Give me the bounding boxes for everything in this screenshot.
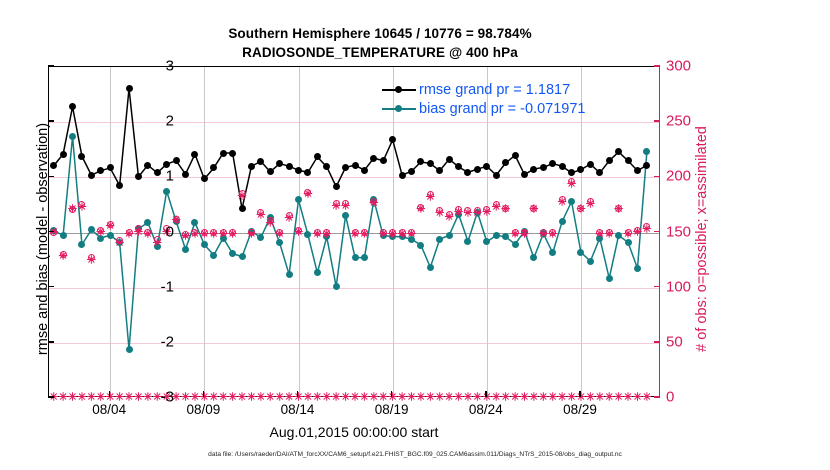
- obs-assimilated-marker: ✳: [68, 205, 77, 216]
- obs-baseline-marker: ✳: [134, 393, 143, 404]
- obs-assimilated-marker: ✳: [492, 203, 501, 214]
- data-point-bias: [587, 258, 594, 265]
- obs-assimilated-marker: ✳: [633, 227, 642, 238]
- obs-baseline-marker: ✳: [633, 393, 642, 404]
- data-point-bias: [436, 236, 443, 243]
- y-tick-mark-right: [654, 65, 660, 66]
- y-tick-label-left: -3: [161, 389, 174, 406]
- data-point-bias: [493, 232, 500, 239]
- data-point-rmse: [69, 103, 76, 110]
- data-point-bias: [559, 218, 566, 225]
- y-tick-label-right: 200: [666, 168, 691, 185]
- obs-assimilated-marker: ✳: [642, 225, 651, 236]
- obs-assimilated-marker: ✳: [303, 189, 312, 200]
- obs-assimilated-marker: ✳: [87, 256, 96, 267]
- data-point-bias: [286, 271, 293, 278]
- data-point-rmse: [220, 150, 227, 157]
- data-point-rmse: [464, 169, 471, 176]
- data-point-bias: [88, 226, 95, 233]
- data-point-bias: [634, 265, 641, 272]
- obs-assimilated-marker: ✳: [623, 229, 632, 240]
- data-point-rmse: [210, 164, 217, 171]
- chart-canvas: Southern Hemisphere 10645 / 10776 = 98.7…: [0, 0, 830, 470]
- obs-baseline-marker: ✳: [266, 393, 275, 404]
- data-point-rmse: [229, 150, 236, 157]
- data-point-rmse: [474, 166, 481, 173]
- data-point-bias: [333, 283, 340, 290]
- data-point-bias: [191, 219, 198, 226]
- obs-baseline-marker: ✳: [68, 393, 77, 404]
- x-tick-label: 08/24: [469, 402, 503, 417]
- data-point-bias: [502, 233, 509, 240]
- obs-assimilated-marker: ✳: [614, 205, 623, 216]
- x-tick-mark: [391, 391, 392, 397]
- data-point-bias: [512, 241, 519, 248]
- data-point-rmse: [596, 169, 603, 176]
- data-point-bias: [606, 275, 613, 282]
- x-tick-mark: [297, 391, 298, 397]
- obs-assimilated-marker: ✳: [284, 214, 293, 225]
- obs-assimilated-marker: ✳: [360, 229, 369, 240]
- obs-assimilated-marker: ✳: [134, 227, 143, 238]
- data-point-rmse: [126, 85, 133, 92]
- obs-assimilated-marker: ✳: [313, 229, 322, 240]
- obs-assimilated-marker: ✳: [397, 229, 406, 240]
- data-point-rmse: [60, 151, 67, 158]
- obs-assimilated-marker: ✳: [426, 193, 435, 204]
- legend: rmse grand pr = 1.1817 bias grand pr = -…: [378, 78, 589, 121]
- data-point-bias: [163, 188, 170, 195]
- obs-baseline-marker: ✳: [445, 393, 454, 404]
- obs-baseline-marker: ✳: [237, 393, 246, 404]
- obs-assimilated-marker: ✳: [595, 229, 604, 240]
- obs-assimilated-marker: ✳: [294, 227, 303, 238]
- obs-assimilated-marker: ✳: [219, 229, 228, 240]
- chart-title: Southern Hemisphere 10645 / 10776 = 98.7…: [0, 24, 760, 62]
- y-tick-mark-right: [654, 176, 660, 177]
- obs-assimilated-marker: ✳: [529, 205, 538, 216]
- data-point-rmse: [606, 157, 613, 164]
- data-point-rmse: [483, 163, 490, 170]
- y-tick-label-right: 300: [666, 58, 691, 75]
- obs-assimilated-marker: ✳: [558, 197, 567, 208]
- data-point-bias: [182, 246, 189, 253]
- obs-assimilated-marker: ✳: [341, 202, 350, 213]
- data-point-bias: [361, 254, 368, 261]
- data-point-bias: [446, 232, 453, 239]
- obs-baseline-marker: ✳: [322, 393, 331, 404]
- obs-assimilated-marker: ✳: [576, 205, 585, 216]
- obs-baseline-marker: ✳: [642, 393, 651, 404]
- obs-baseline-marker: ✳: [623, 393, 632, 404]
- data-point-rmse: [634, 167, 641, 174]
- obs-baseline-marker: ✳: [59, 393, 68, 404]
- data-point-rmse: [333, 183, 340, 190]
- chart-title-line-2: RADIOSONDE_TEMPERATURE @ 400 hPa: [0, 43, 760, 62]
- data-point-rmse: [643, 162, 650, 169]
- obs-baseline-marker: ✳: [548, 393, 557, 404]
- obs-baseline-marker: ✳: [426, 393, 435, 404]
- data-point-rmse: [568, 169, 575, 176]
- obs-assimilated-marker: ✳: [153, 238, 162, 249]
- y-tick-label-left: -1: [161, 278, 174, 295]
- data-point-rmse: [380, 157, 387, 164]
- obs-baseline-marker: ✳: [435, 393, 444, 404]
- obs-assimilated-marker: ✳: [322, 229, 331, 240]
- obs-baseline-marker: ✳: [529, 393, 538, 404]
- obs-assimilated-marker: ✳: [96, 227, 105, 238]
- data-point-bias: [60, 232, 67, 239]
- data-point-rmse: [182, 171, 189, 178]
- y-tick-label-right: 250: [666, 113, 691, 130]
- legend-entry-rmse[interactable]: rmse grand pr = 1.1817: [382, 80, 585, 99]
- y-tick-label-left: -2: [161, 333, 174, 350]
- obs-baseline-marker: ✳: [341, 393, 350, 404]
- data-point-rmse: [615, 148, 622, 155]
- obs-assimilated-marker: ✳: [106, 221, 115, 232]
- data-point-rmse: [267, 168, 274, 175]
- obs-assimilated-marker: ✳: [237, 192, 246, 203]
- y-tick-label-right: 0: [666, 389, 674, 406]
- data-point-rmse: [436, 167, 443, 174]
- obs-assimilated-marker: ✳: [247, 229, 256, 240]
- obs-assimilated-marker: ✳: [115, 238, 124, 249]
- y-axis-label-right: # of obs: o=possible; x=assimilated: [694, 74, 710, 404]
- obs-baseline-marker: ✳: [247, 393, 256, 404]
- legend-marker-bias: [382, 103, 416, 115]
- obs-assimilated-marker: ✳: [228, 229, 237, 240]
- obs-baseline-marker: ✳: [614, 393, 623, 404]
- obs-assimilated-marker: ✳: [407, 229, 416, 240]
- x-tick-mark: [109, 391, 110, 397]
- obs-assimilated-marker: ✳: [510, 229, 519, 240]
- obs-assimilated-marker: ✳: [520, 229, 529, 240]
- data-point-rmse: [512, 152, 519, 159]
- obs-baseline-marker: ✳: [360, 393, 369, 404]
- x-tick-label: 08/29: [563, 402, 597, 417]
- data-point-rmse: [549, 160, 556, 167]
- data-point-rmse: [135, 173, 142, 180]
- data-point-bias: [417, 242, 424, 249]
- data-point-rmse: [78, 153, 85, 160]
- data-point-rmse: [304, 169, 311, 176]
- data-point-bias: [276, 239, 283, 246]
- obs-assimilated-marker: ✳: [379, 229, 388, 240]
- data-point-rmse: [144, 162, 151, 169]
- obs-baseline-marker: ✳: [416, 393, 425, 404]
- data-point-rmse: [248, 163, 255, 170]
- obs-assimilated-marker: ✳: [435, 208, 444, 219]
- data-point-bias: [615, 232, 622, 239]
- data-point-rmse: [50, 162, 57, 169]
- x-tick-label: 08/19: [375, 402, 409, 417]
- data-point-rmse: [625, 157, 632, 164]
- obs-baseline-marker: ✳: [539, 393, 548, 404]
- data-point-rmse: [521, 171, 528, 178]
- y-axis-label-left: rmse and bias (model - observation): [35, 74, 51, 404]
- obs-baseline-marker: ✳: [510, 393, 519, 404]
- y-tick-mark-right: [654, 341, 660, 342]
- obs-assimilated-marker: ✳: [473, 208, 482, 219]
- y-tick-mark-right: [654, 396, 660, 397]
- data-point-bias: [295, 196, 302, 203]
- y-tick-mark-right: [654, 120, 660, 121]
- obs-baseline-marker: ✳: [256, 393, 265, 404]
- obs-assimilated-marker: ✳: [416, 205, 425, 216]
- data-point-bias: [78, 241, 85, 248]
- obs-baseline-marker: ✳: [605, 393, 614, 404]
- data-point-bias: [314, 269, 321, 276]
- obs-assimilated-marker: ✳: [77, 203, 86, 214]
- x-tick-mark: [485, 391, 486, 397]
- data-point-rmse: [455, 163, 462, 170]
- data-point-rmse: [88, 172, 95, 179]
- obs-baseline-marker: ✳: [228, 393, 237, 404]
- data-point-rmse: [201, 175, 208, 182]
- data-point-bias: [577, 249, 584, 256]
- x-tick-mark: [203, 391, 204, 397]
- y-tick-label-left: 3: [166, 58, 174, 75]
- data-point-bias: [257, 234, 264, 241]
- obs-baseline-marker: ✳: [520, 393, 529, 404]
- y-tick-label-right: 50: [666, 333, 683, 350]
- obs-assimilated-marker: ✳: [548, 229, 557, 240]
- legend-label-rmse: rmse grand pr = 1.1817: [419, 82, 570, 98]
- data-point-bias: [464, 238, 471, 245]
- data-point-rmse: [97, 167, 104, 174]
- obs-assimilated-marker: ✳: [209, 229, 218, 240]
- obs-assimilated-marker: ✳: [266, 218, 275, 229]
- obs-assimilated-marker: ✳: [388, 229, 397, 240]
- y-tick-mark-right: [654, 231, 660, 232]
- data-point-rmse: [408, 168, 415, 175]
- obs-assimilated-marker: ✳: [332, 202, 341, 213]
- y-tick-label-right: 100: [666, 278, 691, 295]
- y-tick-mark-right: [654, 286, 660, 287]
- data-point-rmse: [286, 163, 293, 170]
- obs-assimilated-marker: ✳: [586, 199, 595, 210]
- obs-assimilated-marker: ✳: [190, 229, 199, 240]
- data-point-rmse: [342, 164, 349, 171]
- data-point-rmse: [163, 161, 170, 168]
- data-point-bias: [643, 148, 650, 155]
- obs-baseline-marker: ✳: [143, 393, 152, 404]
- data-point-bias: [201, 241, 208, 248]
- data-point-rmse: [540, 164, 547, 171]
- x-axis-label: Aug.01,2015 00:00:00 start: [48, 424, 660, 440]
- obs-assimilated-marker: ✳: [275, 229, 284, 240]
- obs-assimilated-marker: ✳: [482, 207, 491, 218]
- obs-assimilated-marker: ✳: [124, 229, 133, 240]
- obs-baseline-marker: ✳: [332, 393, 341, 404]
- data-point-bias: [107, 232, 114, 239]
- data-point-rmse: [493, 172, 500, 179]
- obs-assimilated-marker: ✳: [605, 229, 614, 240]
- obs-assimilated-marker: ✳: [454, 207, 463, 218]
- data-point-rmse: [417, 158, 424, 165]
- data-point-rmse: [530, 166, 537, 173]
- obs-assimilated-marker: ✳: [59, 251, 68, 262]
- data-point-rmse: [323, 163, 330, 170]
- data-point-rmse: [587, 161, 594, 168]
- data-point-rmse: [314, 153, 321, 160]
- chart-title-line-1: Southern Hemisphere 10645 / 10776 = 98.7…: [0, 24, 760, 43]
- data-point-bias: [549, 249, 556, 256]
- data-point-rmse: [295, 167, 302, 174]
- data-point-rmse: [107, 164, 114, 171]
- data-point-bias: [342, 212, 349, 219]
- data-point-rmse: [352, 162, 359, 169]
- obs-baseline-marker: ✳: [454, 393, 463, 404]
- obs-assimilated-marker: ✳: [350, 229, 359, 240]
- data-point-bias: [568, 198, 575, 205]
- data-point-bias: [239, 253, 246, 260]
- obs-assimilated-marker: ✳: [200, 229, 209, 240]
- obs-assimilated-marker: ✳: [445, 213, 454, 224]
- data-point-rmse: [577, 166, 584, 173]
- data-point-rmse: [427, 160, 434, 167]
- x-tick-label: 08/04: [92, 402, 126, 417]
- legend-marker-rmse: [382, 84, 416, 96]
- data-point-rmse: [361, 167, 368, 174]
- data-point-rmse: [173, 157, 180, 164]
- data-point-bias: [427, 264, 434, 271]
- data-point-bias: [304, 231, 311, 238]
- data-point-bias: [144, 219, 151, 226]
- data-point-rmse: [559, 163, 566, 170]
- data-point-bias: [126, 346, 133, 353]
- y-tick-label-left: 2: [166, 113, 174, 130]
- obs-assimilated-marker: ✳: [256, 210, 265, 221]
- obs-assimilated-marker: ✳: [369, 198, 378, 209]
- obs-assimilated-marker: ✳: [143, 229, 152, 240]
- obs-assimilated-marker: ✳: [463, 208, 472, 219]
- data-point-rmse: [257, 158, 264, 165]
- data-point-rmse: [239, 205, 246, 212]
- data-point-rmse: [370, 155, 377, 162]
- obs-baseline-marker: ✳: [350, 393, 359, 404]
- x-tick-label: 08/14: [281, 402, 315, 417]
- data-point-bias: [69, 133, 76, 140]
- y-tick-mark-left: [48, 65, 54, 66]
- data-point-rmse: [116, 182, 123, 189]
- data-point-rmse: [276, 160, 283, 167]
- y-tick-label-left: 1: [166, 168, 174, 185]
- obs-assimilated-marker: ✳: [181, 231, 190, 242]
- x-tick-label: 08/09: [186, 402, 220, 417]
- data-file-caption: data file: /Users/raeder/DAI/ATM_forcXX/…: [0, 451, 830, 458]
- legend-label-bias: bias grand pr = -0.071971: [419, 101, 585, 117]
- data-point-rmse: [154, 169, 161, 176]
- obs-assimilated-marker: ✳: [501, 205, 510, 216]
- data-point-rmse: [446, 156, 453, 163]
- legend-entry-bias[interactable]: bias grand pr = -0.071971: [382, 99, 585, 118]
- data-point-rmse: [399, 172, 406, 179]
- obs-assimilated-marker: ✳: [567, 180, 576, 191]
- obs-baseline-marker: ✳: [77, 393, 86, 404]
- data-point-bias: [352, 254, 359, 261]
- data-point-rmse: [502, 159, 509, 166]
- data-point-bias: [483, 238, 490, 245]
- data-point-bias: [229, 250, 236, 257]
- data-point-bias: [530, 254, 537, 261]
- y-tick-label-right: 150: [666, 223, 691, 240]
- data-point-bias: [210, 252, 217, 259]
- data-point-rmse: [389, 136, 396, 143]
- x-tick-mark: [579, 391, 580, 397]
- obs-assimilated-marker: ✳: [539, 229, 548, 240]
- y-tick-label-left: 0: [166, 223, 174, 240]
- data-point-rmse: [191, 151, 198, 158]
